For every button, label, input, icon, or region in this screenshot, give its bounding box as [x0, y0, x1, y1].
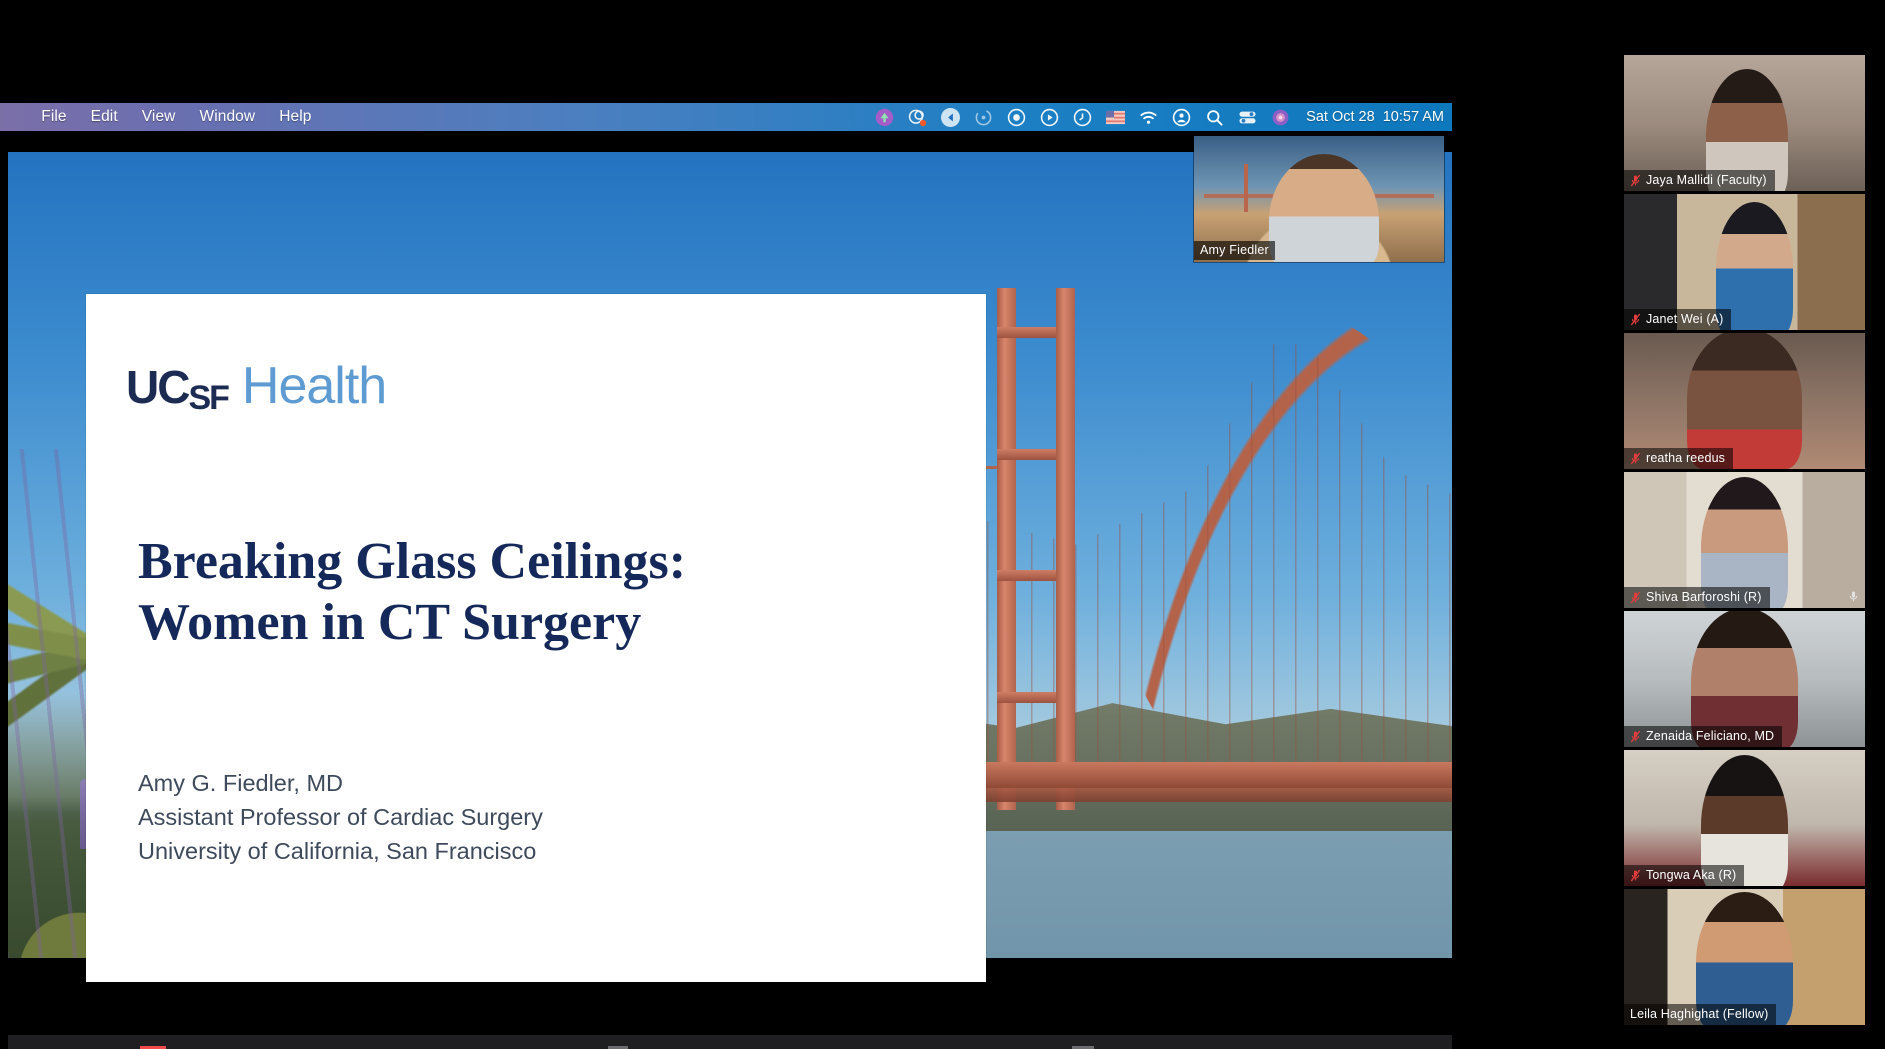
wifi-icon[interactable]	[1139, 108, 1158, 127]
participant-tile-active-speaker[interactable]: Leila Haghighat (Fellow)	[1624, 889, 1865, 1025]
play-circle-icon[interactable]	[1040, 108, 1059, 127]
ucsf-health-logo: UCSF Health	[126, 356, 386, 416]
us-flag-input-icon[interactable]	[1106, 108, 1125, 127]
menu-item-help[interactable]: Help	[267, 103, 323, 131]
spinner-icon	[974, 108, 993, 127]
author-title: Assistant Professor of Cardiac Surgery	[138, 800, 543, 834]
author-org: University of California, San Francisco	[138, 834, 543, 868]
time-machine-icon[interactable]	[1073, 108, 1092, 127]
participant-name-bar: reatha reedus	[1624, 448, 1733, 469]
presenter-thumbnail[interactable]: Amy Fiedler	[1194, 136, 1444, 262]
logo-health-text: Health	[242, 356, 386, 416]
microphone-muted-icon	[1630, 591, 1641, 604]
slide-title-line-1: Breaking Glass Ceilings:	[138, 532, 898, 593]
author-name: Amy G. Fiedler, MD	[138, 766, 543, 800]
slide-title: Breaking Glass Ceilings: Women in CT Sur…	[138, 532, 898, 654]
microphone-muted-icon	[1630, 730, 1641, 743]
user-account-icon[interactable]	[1172, 108, 1191, 127]
mac-menu-bar:  File Edit View Window Help	[0, 103, 1452, 131]
participant-name-bar: Leila Haghighat (Fellow)	[1624, 1004, 1776, 1025]
participant-tile[interactable]: reatha reedus	[1624, 333, 1865, 469]
record-icon[interactable]	[1007, 108, 1026, 127]
slide-author-block: Amy G. Fiedler, MD Assistant Professor o…	[138, 766, 543, 868]
bridge-tower-left-leg	[997, 288, 1016, 810]
bridge-tower-crossbar-1	[997, 327, 1056, 338]
participant-name: reatha reedus	[1646, 451, 1725, 465]
participant-tile[interactable]: Jaya Mallidi (Faculty)	[1624, 55, 1865, 191]
dropbox-icon[interactable]	[908, 108, 927, 127]
microphone-muted-icon	[1630, 869, 1641, 882]
menu-item-window[interactable]: Window	[187, 103, 267, 131]
participant-name-bar: Zenaida Feliciano, MD	[1624, 726, 1782, 747]
presenter-name-label: Amy Fiedler	[1194, 241, 1275, 260]
microphone-muted-icon	[1630, 313, 1641, 326]
bridge-tower-crossbar-3	[997, 570, 1056, 581]
zoom-toolbar[interactable]	[8, 1035, 1452, 1049]
participant-name: Leila Haghighat (Fellow)	[1630, 1007, 1768, 1021]
menu-item-edit[interactable]: Edit	[79, 103, 130, 131]
slide-title-line-2: Women in CT Surgery	[138, 593, 898, 654]
participant-name: Janet Wei (A)	[1646, 312, 1723, 326]
screen:  File Edit View Window Help	[0, 0, 1885, 1049]
siri-icon[interactable]	[1271, 108, 1290, 127]
menu-bar-tray	[875, 108, 1298, 127]
zoom-share-active-icon[interactable]	[941, 108, 960, 127]
bridge-tower-right-leg	[1056, 288, 1075, 810]
participant-name-bar: Tongwa Aka (R)	[1624, 865, 1744, 886]
menu-item-file[interactable]: File	[29, 103, 78, 131]
virtual-bg-bridge-tower	[1244, 164, 1248, 212]
participant-name-bar: Jaya Mallidi (Faculty)	[1624, 170, 1775, 191]
menu-bar-clock[interactable]: Sat Oct 28 10:57 AM	[1298, 109, 1452, 125]
microphone-muted-icon	[1630, 452, 1641, 465]
microphone-icon	[1848, 590, 1859, 603]
menu-item-view[interactable]: View	[130, 103, 188, 131]
participant-tile[interactable]: Shiva Barforoshi (R)	[1624, 472, 1865, 608]
presentation-slide: UCSF Health Breaking Glass Ceilings: Wom…	[86, 294, 986, 982]
participant-name-bar: Shiva Barforoshi (R)	[1624, 587, 1770, 608]
bridge-tower-crossbar-4	[997, 692, 1056, 703]
microphone-muted-icon	[1630, 174, 1641, 187]
participant-tile[interactable]: Zenaida Feliciano, MD	[1624, 611, 1865, 747]
participant-name: Jaya Mallidi (Faculty)	[1646, 173, 1767, 187]
control-center-icon[interactable]	[1238, 108, 1257, 127]
logo-ucsf-text: UCSF	[126, 360, 228, 414]
participant-filmstrip[interactable]: Jaya Mallidi (Faculty) Janet Wei (A)	[1452, 0, 1885, 1049]
participant-tile[interactable]: Janet Wei (A)	[1624, 194, 1865, 330]
participant-name: Shiva Barforoshi (R)	[1646, 590, 1762, 604]
participant-tile[interactable]: Tongwa Aka (R)	[1624, 750, 1865, 886]
search-icon[interactable]	[1205, 108, 1224, 127]
shared-screen-region:  File Edit View Window Help	[0, 0, 1452, 1049]
arrow-up-circle-icon[interactable]	[875, 108, 894, 127]
participant-name: Zenaida Feliciano, MD	[1646, 729, 1774, 743]
participant-name-bar: Janet Wei (A)	[1624, 309, 1731, 330]
participant-name: Tongwa Aka (R)	[1646, 868, 1736, 882]
bridge-tower-crossbar-2	[997, 449, 1056, 460]
